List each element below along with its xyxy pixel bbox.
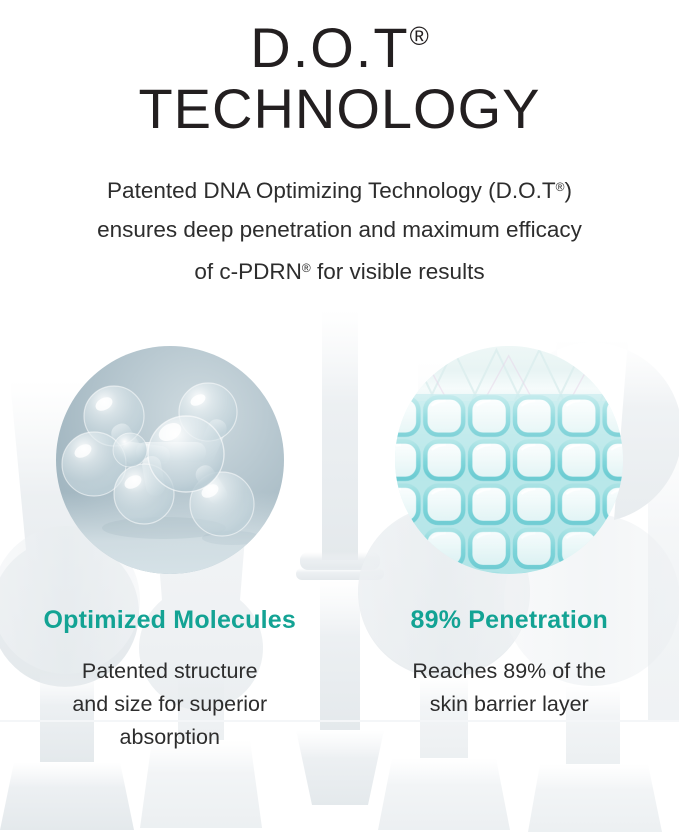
subtitle-line-2: ensures deep penetration and maximum eff… — [30, 210, 649, 249]
subtitle-line-1: Patented DNA Optimizing Technology (D.O.… — [30, 168, 649, 210]
title-dot-text: D.O.T — [250, 16, 409, 79]
registered-trademark-icon: ® — [410, 21, 429, 51]
feature-body-line-2: skin barrier layer — [412, 688, 606, 721]
skin-surface-band — [395, 346, 623, 401]
feature-column-penetration: 89% Penetration Reaches 89% of the skin … — [340, 346, 679, 754]
subtitle-line-1a: Patented DNA Optimizing Technology (D.O.… — [107, 178, 556, 203]
feature-body-line-1: Reaches 89% of the — [412, 655, 606, 688]
title-line-one: D.O.T® — [0, 0, 679, 78]
feature-body-line-1: Patented structure — [72, 655, 267, 688]
feature-caption-penetration: 89% Penetration — [410, 606, 608, 635]
registered-trademark-icon: ® — [302, 261, 311, 275]
feature-column-optimized-molecules: Optimized Molecules Patented structure a… — [0, 346, 340, 754]
feature-body-optimized-molecules: Patented structure and size for superior… — [72, 655, 267, 754]
subtitle-line-3b: for visible results — [311, 259, 485, 284]
subtitle-line-3a: of c-PDRN — [194, 259, 302, 284]
dot-technology-infographic: D.O.T® TECHNOLOGY Patented DNA Optimizin… — [0, 0, 679, 835]
feature-body-line-2: and size for superior — [72, 688, 267, 721]
page-title: D.O.T® TECHNOLOGY — [0, 0, 679, 140]
subtitle-line-3: of c-PDRN® for visible results — [30, 249, 649, 291]
skin-barrier-illustration — [395, 346, 623, 574]
feature-body-penetration: Reaches 89% of the skin barrier layer — [412, 655, 606, 721]
subtitle-line-1b: ) — [564, 178, 572, 203]
molecule-illustration — [56, 346, 284, 574]
skin-cell-grid — [395, 394, 623, 574]
title-line-two: TECHNOLOGY — [0, 78, 679, 140]
feature-columns: Optimized Molecules Patented structure a… — [0, 346, 679, 754]
subtitle-paragraph: Patented DNA Optimizing Technology (D.O.… — [30, 168, 649, 291]
feature-caption-optimized-molecules: Optimized Molecules — [44, 606, 296, 635]
feature-body-line-3: absorption — [72, 721, 267, 754]
